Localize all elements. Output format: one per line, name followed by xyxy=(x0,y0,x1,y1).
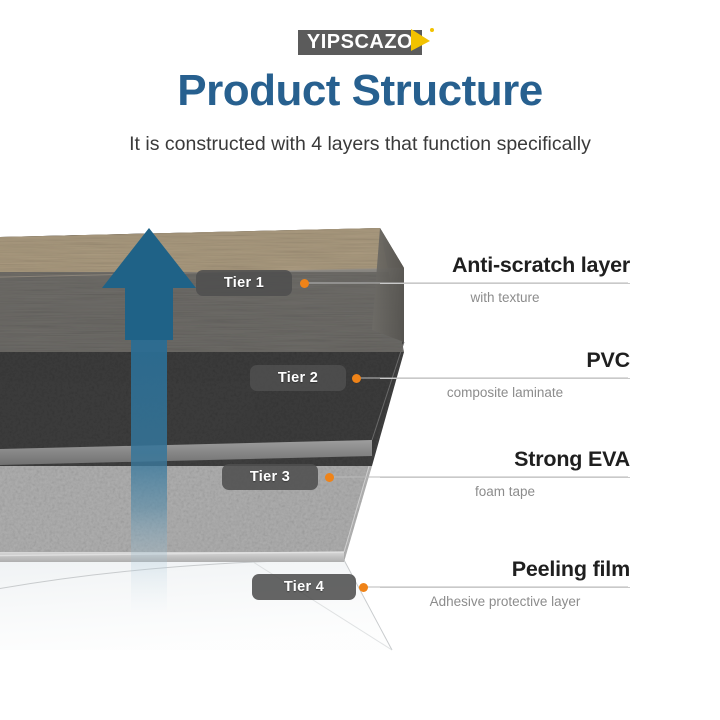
tier-badge-2-label: Tier 2 xyxy=(278,370,318,386)
layer-label-4-subtitle: Adhesive protective layer xyxy=(380,594,630,609)
tier-dot-1 xyxy=(300,279,309,288)
label-rule-4 xyxy=(380,587,630,588)
tier-badge-4-label: Tier 4 xyxy=(284,579,324,595)
layer-tier-3 xyxy=(0,450,420,570)
tier-badge-4[interactable]: Tier 4 xyxy=(252,574,356,600)
layer-label-4: Peeling film Adhesive protective layer xyxy=(380,557,630,609)
layer-label-2: PVC composite laminate xyxy=(380,348,630,400)
label-rule-2 xyxy=(380,378,630,379)
layer-label-2-title: PVC xyxy=(586,348,630,373)
layer-label-3-title: Strong EVA xyxy=(514,447,630,472)
layer-label-3-subtitle: foam tape xyxy=(380,484,630,499)
layer-label-1: Anti-scratch layer with texture xyxy=(380,253,630,305)
tier-badge-3-label: Tier 3 xyxy=(250,469,290,485)
label-rule-1 xyxy=(380,283,630,284)
tier-badge-3[interactable]: Tier 3 xyxy=(222,464,318,490)
tier-dot-4 xyxy=(359,583,368,592)
infographic-page: YIPSCAZO Product Structure It is constru… xyxy=(0,0,720,720)
layer-label-1-subtitle: with texture xyxy=(380,290,630,305)
layer-label-3: Strong EVA foam tape xyxy=(380,447,630,499)
tier-badge-2[interactable]: Tier 2 xyxy=(250,365,346,391)
tier-badge-1-label: Tier 1 xyxy=(224,275,264,291)
tier-dot-3 xyxy=(325,473,334,482)
label-rule-3 xyxy=(380,477,630,478)
tier-dot-2 xyxy=(352,374,361,383)
tier-badge-1[interactable]: Tier 1 xyxy=(196,270,292,296)
layer-tier-2 xyxy=(0,336,430,476)
layer-label-1-title: Anti-scratch layer xyxy=(452,253,630,278)
layer-label-2-subtitle: composite laminate xyxy=(380,385,630,400)
layer-label-4-title: Peeling film xyxy=(512,557,630,582)
